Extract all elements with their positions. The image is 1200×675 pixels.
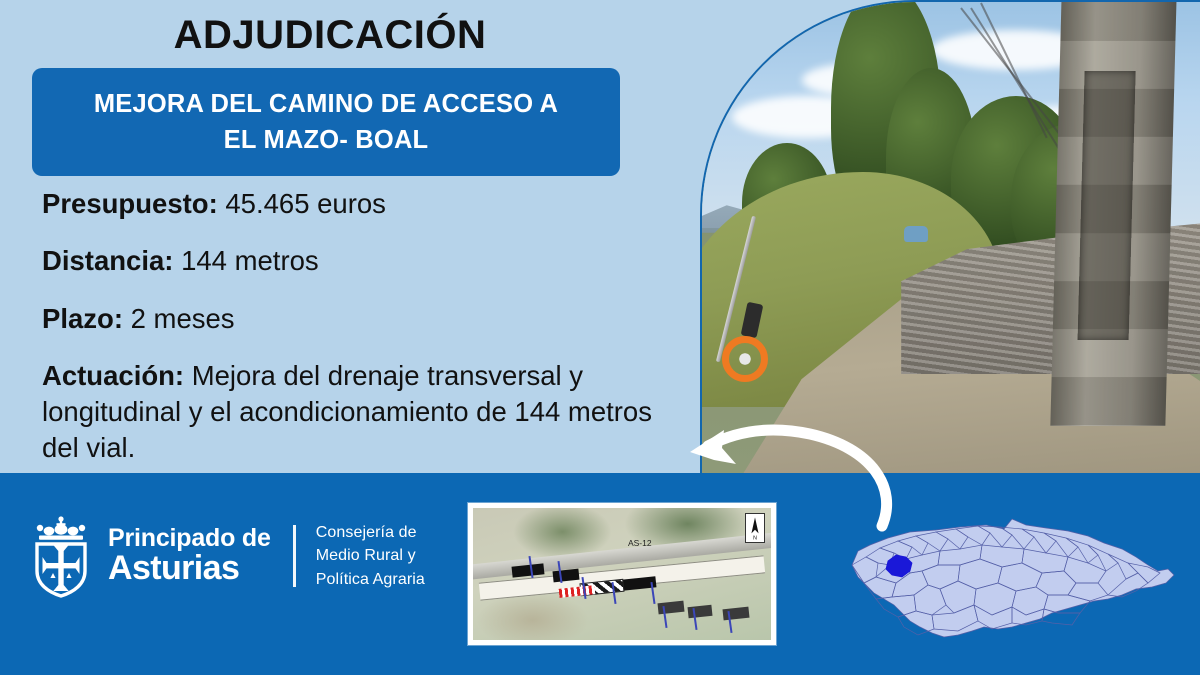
logo-line-1: Principado de: [108, 526, 271, 552]
asturias-cross-shield-icon: [28, 513, 94, 599]
consejeria-line-1: Consejería de: [316, 521, 425, 544]
distant-car: [904, 226, 928, 242]
detail-key: Presupuesto:: [42, 188, 218, 219]
detail-value: 2 meses: [131, 303, 235, 334]
north-arrow-icon: N: [745, 513, 765, 543]
detail-key: Distancia:: [42, 245, 173, 276]
logo-line-2: Asturias: [108, 551, 271, 586]
logo-divider: [293, 525, 296, 587]
site-photo: [700, 0, 1200, 473]
detail-value: 144 metros: [181, 245, 319, 276]
detail-key: Actuación:: [42, 360, 184, 391]
detail-row-presupuesto: Presupuesto: 45.465 euros: [42, 186, 676, 222]
svg-text:N: N: [753, 536, 757, 541]
infographic-root: ADJUDICACIÓN MEJORA DEL CAMINO DE ACCESO…: [0, 0, 1200, 675]
detail-value: 45.465 euros: [225, 188, 386, 219]
logo-wordmark: Principado de Asturias: [108, 526, 271, 586]
page-title: ADJUDICACIÓN: [0, 13, 660, 58]
detail-row-actuacion: Actuación: Mejora del drenaje transversa…: [42, 358, 676, 467]
detail-row-plazo: Plazo: 2 meses: [42, 301, 676, 337]
asturias-locator-map: [836, 505, 1188, 650]
plan-segment: [687, 604, 712, 617]
consejeria-block: Consejería de Medio Rural y Política Agr…: [316, 521, 425, 591]
plan-canvas: AS-12 N: [473, 508, 771, 640]
headline-text: MEJORA DEL CAMINO DE ACCESO A EL MAZO- B…: [94, 86, 558, 158]
measuring-wheel: [722, 336, 768, 382]
detail-key: Plazo:: [42, 303, 123, 334]
concrete-pole: [1050, 0, 1176, 426]
plan-road-label: AS-12: [628, 538, 652, 548]
project-plan-map: AS-12 N: [468, 503, 776, 645]
institution-logo: Principado de Asturias Consejería de Med…: [28, 513, 425, 599]
detail-list: Presupuesto: 45.465 euros Distancia: 144…: [42, 186, 676, 467]
plan-segment: [511, 563, 544, 577]
photo-scene: [702, 2, 1200, 473]
consejeria-line-2: Medio Rural y: [316, 544, 425, 567]
headline-line-1: MEJORA DEL CAMINO DE ACCESO A: [94, 90, 558, 118]
detail-row-distancia: Distancia: 144 metros: [42, 243, 676, 279]
plan-segment: [657, 600, 684, 614]
plan-red-marker: [559, 585, 596, 598]
headline-box: MEJORA DEL CAMINO DE ACCESO A EL MAZO- B…: [32, 68, 620, 176]
headline-line-2: EL MAZO- BOAL: [224, 126, 429, 154]
consejeria-line-3: Política Agraria: [316, 568, 425, 591]
pole-slot: [1077, 71, 1134, 340]
